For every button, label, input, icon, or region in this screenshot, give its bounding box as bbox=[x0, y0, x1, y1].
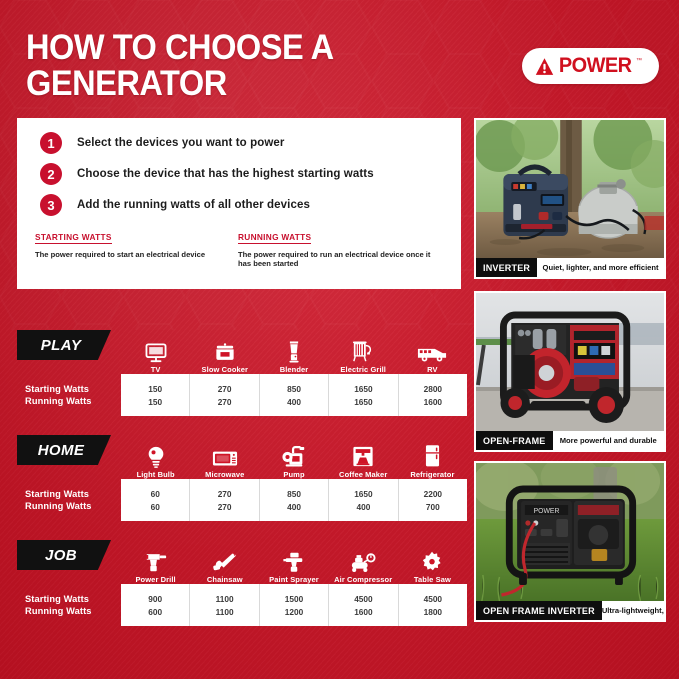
row-label-group: Starting Watts Running Watts bbox=[17, 479, 101, 521]
starting-watts-value: 2800 bbox=[424, 384, 442, 394]
photo-open-frame-inverter: POWER bbox=[476, 463, 664, 601]
starting-watts-value: 2200 bbox=[424, 489, 442, 499]
running-watts-value: 400 bbox=[287, 397, 301, 407]
device-label: Power Drill bbox=[135, 575, 175, 584]
device-label: Slow Cooker bbox=[202, 365, 249, 374]
value-column: 60 60 bbox=[121, 479, 190, 521]
values-grid: 900 600 1100 1100 1500 1200 4500 1600 45… bbox=[121, 584, 467, 626]
category-tag-home: HOME bbox=[17, 435, 111, 465]
definition-body: The power required to start an electrica… bbox=[35, 250, 238, 259]
starting-watts-value: 1100 bbox=[216, 594, 234, 604]
step-number-badge: 2 bbox=[40, 163, 62, 185]
device-coffee-maker: Coffee Maker bbox=[329, 431, 398, 479]
running-watts-value: 1600 bbox=[424, 397, 442, 407]
value-column: 4500 1800 bbox=[399, 584, 467, 626]
device-slow-cooker: Slow Cooker bbox=[190, 326, 259, 374]
electric-grill-icon bbox=[351, 341, 375, 363]
step-row: 1 Select the devices you want to power bbox=[33, 132, 445, 154]
category-tag-label: JOB bbox=[45, 547, 77, 564]
watts-table: Starting Watts Running Watts 60 60 270 2… bbox=[17, 479, 467, 521]
device-strip: Power Drill Chainsaw bbox=[121, 536, 467, 584]
tv-icon bbox=[145, 343, 167, 363]
a-power-triangle-icon bbox=[535, 57, 554, 76]
starting-watts-value: 850 bbox=[287, 384, 301, 394]
value-column: 270 270 bbox=[190, 479, 259, 521]
device-electric-grill: Electric Grill bbox=[329, 326, 398, 374]
open-frame-inverter-scene-illustration: POWER bbox=[476, 463, 664, 601]
trademark-symbol: ™ bbox=[636, 58, 642, 64]
category-job: JOB Power Drill bbox=[17, 536, 467, 626]
running-watts-value: 60 bbox=[151, 502, 160, 512]
photo-open-frame-generator bbox=[476, 293, 664, 431]
starting-watts-value: 150 bbox=[148, 384, 162, 394]
definition-starting-watts: STARTING WATTS The power required to sta… bbox=[35, 227, 238, 268]
steps-card: 1 Select the devices you want to power 2… bbox=[17, 118, 461, 289]
photo-card-inverter: INVERTER Quiet, lighter, and more effici… bbox=[474, 118, 666, 279]
device-label: Light Bulb bbox=[137, 470, 175, 479]
device-blender: Blender bbox=[259, 326, 328, 374]
value-column: 850 400 bbox=[260, 374, 329, 416]
starting-watts-value: 1650 bbox=[354, 489, 372, 499]
device-air-compressor: Air Compressor bbox=[329, 536, 398, 584]
inverter-scene-illustration bbox=[476, 120, 664, 258]
device-strip: Light Bulb Microwave bbox=[121, 431, 467, 479]
running-watts-value: 700 bbox=[426, 502, 440, 512]
device-label: Refrigerator bbox=[410, 470, 454, 479]
category-tag-job: JOB bbox=[17, 540, 111, 570]
row-label-starting: Starting Watts bbox=[25, 594, 89, 604]
row-label-group: Starting Watts Running Watts bbox=[17, 584, 101, 626]
blender-icon bbox=[283, 341, 305, 363]
category-tag-label: PLAY bbox=[41, 337, 82, 354]
paint-sprayer-icon bbox=[282, 551, 306, 573]
running-watts-value: 400 bbox=[357, 502, 371, 512]
starting-watts-value: 1650 bbox=[354, 384, 372, 394]
device-chainsaw: Chainsaw bbox=[190, 536, 259, 584]
open-frame-scene-illustration bbox=[476, 293, 664, 431]
row-label-running: Running Watts bbox=[25, 606, 92, 616]
coffee-maker-icon bbox=[352, 446, 374, 468]
row-label-starting: Starting Watts bbox=[25, 489, 89, 499]
device-label: Pump bbox=[283, 470, 304, 479]
air-compressor-icon bbox=[350, 553, 376, 573]
microwave-icon bbox=[212, 450, 238, 468]
device-label: Air Compressor bbox=[334, 575, 392, 584]
running-watts-value: 270 bbox=[218, 397, 232, 407]
light-bulb-icon bbox=[147, 446, 165, 468]
poster-header: HOW TO CHOOSE A GENERATOR POWER ™ bbox=[26, 40, 659, 92]
category-header: PLAY TV bbox=[17, 326, 467, 374]
running-watts-value: 400 bbox=[287, 502, 301, 512]
device-label: Blender bbox=[280, 365, 309, 374]
device-strip: TV Slow Cooker bbox=[121, 326, 467, 374]
starting-watts-value: 900 bbox=[148, 594, 162, 604]
photo-tag: OPEN FRAME INVERTER bbox=[476, 601, 602, 620]
slow-cooker-icon bbox=[214, 343, 236, 363]
value-column: 1100 1100 bbox=[190, 584, 259, 626]
step-text: Select the devices you want to power bbox=[77, 137, 284, 149]
device-label: Electric Grill bbox=[340, 365, 386, 374]
value-column: 4500 1600 bbox=[329, 584, 398, 626]
category-header: HOME Light Bulb bbox=[17, 431, 467, 479]
starting-watts-value: 270 bbox=[218, 384, 232, 394]
device-paint-sprayer: Paint Sprayer bbox=[259, 536, 328, 584]
device-label: Chainsaw bbox=[207, 575, 243, 584]
category-home: HOME Light Bulb bbox=[17, 431, 467, 521]
value-column: 150 150 bbox=[121, 374, 190, 416]
step-number-badge: 3 bbox=[40, 194, 62, 216]
device-rv: RV bbox=[398, 326, 467, 374]
starting-watts-value: 1500 bbox=[285, 594, 303, 604]
logo-wordmark: POWER bbox=[559, 54, 632, 78]
row-label-starting: Starting Watts bbox=[25, 384, 89, 394]
value-column: 850 400 bbox=[260, 479, 329, 521]
device-table-saw: Table Saw bbox=[398, 536, 467, 584]
device-refrigerator: Refrigerator bbox=[398, 431, 467, 479]
device-light-bulb: Light Bulb bbox=[121, 431, 190, 479]
power-drill-icon bbox=[144, 551, 168, 573]
watts-table: Starting Watts Running Watts 150 150 270… bbox=[17, 374, 467, 416]
running-watts-value: 1800 bbox=[424, 607, 442, 617]
photo-caption-bar: INVERTER Quiet, lighter, and more effici… bbox=[476, 258, 664, 277]
chainsaw-icon bbox=[212, 551, 238, 573]
running-watts-value: 1200 bbox=[285, 607, 303, 617]
definition-body: The power required to run an electrical … bbox=[238, 250, 445, 268]
device-label: RV bbox=[427, 365, 437, 374]
starting-watts-value: 850 bbox=[287, 489, 301, 499]
device-label: Paint Sprayer bbox=[269, 575, 319, 584]
starting-watts-value: 270 bbox=[218, 489, 232, 499]
device-label: TV bbox=[151, 365, 161, 374]
step-text: Choose the device that has the highest s… bbox=[77, 168, 374, 180]
definition-title: RUNNING WATTS bbox=[238, 232, 311, 244]
rv-icon bbox=[417, 345, 447, 363]
brand-logo: POWER ™ bbox=[522, 48, 659, 84]
value-column: 270 270 bbox=[190, 374, 259, 416]
device-label: Coffee Maker bbox=[339, 470, 387, 479]
value-column: 900 600 bbox=[121, 584, 190, 626]
starting-watts-value: 4500 bbox=[424, 594, 442, 604]
device-tv: TV bbox=[121, 326, 190, 374]
device-label: Microwave bbox=[205, 470, 244, 479]
step-row: 2 Choose the device that has the highest… bbox=[33, 163, 445, 185]
value-column: 1650 400 bbox=[329, 479, 398, 521]
device-pump: Pump bbox=[259, 431, 328, 479]
value-column: 1650 1650 bbox=[329, 374, 398, 416]
starting-watts-value: 60 bbox=[151, 489, 160, 499]
definition-title: STARTING WATTS bbox=[35, 232, 112, 244]
photo-caption-bar: OPEN-FRAME More powerful and durable bbox=[476, 431, 664, 450]
row-label-running: Running Watts bbox=[25, 396, 92, 406]
values-grid: 60 60 270 270 850 400 1650 400 2200 70 bbox=[121, 479, 467, 521]
running-watts-value: 150 bbox=[148, 397, 162, 407]
definition-running-watts: RUNNING WATTS The power required to run … bbox=[238, 227, 445, 268]
table-saw-icon bbox=[421, 551, 443, 573]
refrigerator-icon bbox=[425, 444, 440, 468]
values-grid: 150 150 270 270 850 400 1650 1650 2800 bbox=[121, 374, 467, 416]
running-watts-value: 600 bbox=[148, 607, 162, 617]
row-label-group: Starting Watts Running Watts bbox=[17, 374, 101, 416]
running-watts-value: 1100 bbox=[216, 607, 234, 617]
photo-caption-bar: OPEN FRAME INVERTER Ultra-lightweight, P… bbox=[476, 601, 664, 620]
photo-card-open-frame-inverter: POWER bbox=[474, 461, 666, 622]
photo-card-open-frame: OPEN-FRAME More powerful and durable bbox=[474, 291, 666, 452]
infographic-poster: HOW TO CHOOSE A GENERATOR POWER ™ 1 Sele… bbox=[0, 0, 679, 679]
running-watts-value: 270 bbox=[218, 502, 232, 512]
category-header: JOB Power Drill bbox=[17, 536, 467, 584]
row-label-running: Running Watts bbox=[25, 501, 92, 511]
photo-caption: Ultra-lightweight, Portable bbox=[602, 601, 666, 620]
svg-text:POWER: POWER bbox=[534, 508, 560, 515]
step-number-badge: 1 bbox=[40, 132, 62, 154]
category-tag-label: HOME bbox=[38, 442, 85, 459]
page-title: HOW TO CHOOSE A GENERATOR bbox=[26, 30, 487, 102]
step-text: Add the running watts of all other devic… bbox=[77, 199, 310, 211]
watts-table: Starting Watts Running Watts 900 600 110… bbox=[17, 584, 467, 626]
photo-caption: Quiet, lighter, and more efficient bbox=[537, 258, 664, 277]
category-play: PLAY TV bbox=[17, 326, 467, 416]
pump-icon bbox=[281, 446, 307, 468]
device-microwave: Microwave bbox=[190, 431, 259, 479]
device-label: Table Saw bbox=[414, 575, 451, 584]
device-power-drill: Power Drill bbox=[121, 536, 190, 584]
photo-tag: INVERTER bbox=[476, 258, 537, 277]
definitions-row: STARTING WATTS The power required to sta… bbox=[33, 227, 445, 268]
value-column: 2800 1600 bbox=[399, 374, 467, 416]
category-tag-play: PLAY bbox=[17, 330, 111, 360]
running-watts-value: 1650 bbox=[354, 397, 372, 407]
step-row: 3 Add the running watts of all other dev… bbox=[33, 194, 445, 216]
photo-tag: OPEN-FRAME bbox=[476, 431, 553, 450]
photo-caption: More powerful and durable bbox=[553, 431, 665, 450]
running-watts-value: 1600 bbox=[354, 607, 372, 617]
value-column: 1500 1200 bbox=[260, 584, 329, 626]
starting-watts-value: 4500 bbox=[354, 594, 372, 604]
value-column: 2200 700 bbox=[399, 479, 467, 521]
photo-inverter-generator bbox=[476, 120, 664, 258]
